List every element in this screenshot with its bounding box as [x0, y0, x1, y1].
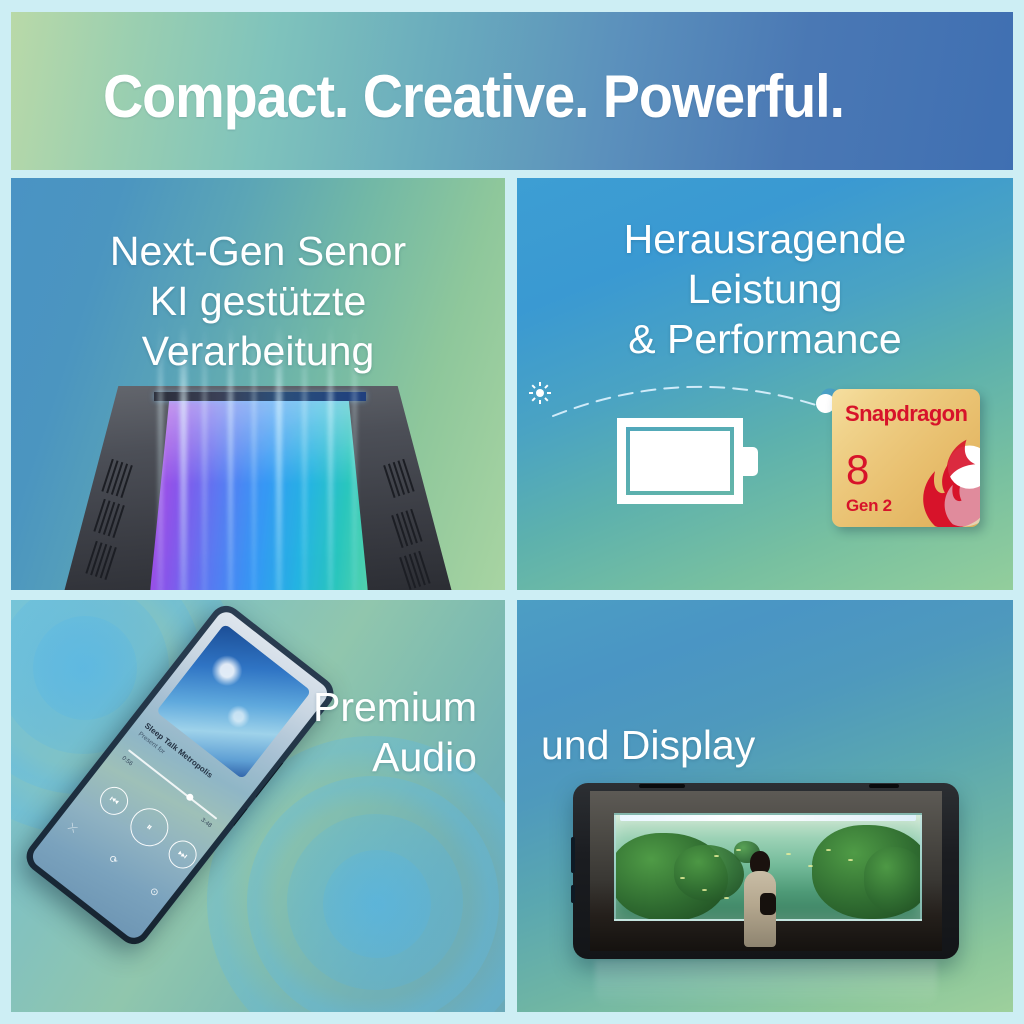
equalizer-icon[interactable]: ⊙: [148, 885, 161, 899]
repeat-icon[interactable]: ⟳: [107, 853, 120, 867]
shuffle-icon[interactable]: ⤫: [66, 821, 79, 835]
snapdragon-chip-badge: Snapdragon 8 Gen 2: [832, 389, 980, 527]
panel-title-performance: Herausragende Leistung & Performance: [517, 214, 1013, 364]
panel-next-gen-sensor: Next-Gen Senor KI gestützte Verarbeitung: [11, 178, 505, 590]
snapdragon-number-label: 8: [846, 449, 869, 491]
sensor-photosensitive-surface: [150, 396, 368, 590]
battery-full-icon: [617, 418, 759, 504]
panel-display: und Display: [517, 600, 1013, 1012]
snapdragon-flame-logo-icon: [878, 421, 980, 527]
phone-reflection: [595, 960, 937, 1008]
aquarium-fish: [724, 897, 729, 899]
aquarium-light-bar: [620, 813, 916, 821]
aquarium-plant: [864, 847, 922, 913]
header-banner: Compact. Creative. Powerful.: [11, 12, 1013, 170]
phone-speaker-slot: [639, 784, 685, 788]
person-silhouette: [740, 851, 780, 947]
display-phone: [573, 783, 959, 959]
shoulder-bag: [760, 893, 776, 915]
pause-icon[interactable]: ⏸: [123, 801, 176, 854]
aquarium-room-scene: [590, 791, 942, 951]
page-title: Compact. Creative. Powerful.: [103, 62, 844, 131]
next-track-icon[interactable]: ⏭: [163, 835, 202, 874]
aquarium-fish: [808, 865, 813, 867]
panel-title-audio: Premium Audio: [313, 682, 477, 782]
product-feature-poster: Compact. Creative. Powerful.: [0, 0, 1024, 1024]
time-elapsed: 0:56: [120, 755, 133, 767]
image-sensor-chip: [58, 366, 458, 590]
aquarium-fish: [680, 877, 685, 879]
panel-title-display: und Display: [541, 720, 755, 770]
panel-premium-audio: Sleep Talk Metropolis Present for 0:56 3…: [11, 600, 505, 1012]
sun-icon: [529, 382, 551, 404]
aquarium-fish: [786, 853, 791, 855]
phone-screen: [590, 791, 942, 951]
aquarium-fish: [702, 889, 707, 891]
sound-wave-ring: [323, 850, 431, 958]
panel-performance: Herausragende Leistung & Performance Sna…: [517, 178, 1013, 590]
phone-camera-slot: [869, 784, 899, 788]
previous-track-icon[interactable]: ⏮: [94, 781, 133, 820]
sound-wave-ring: [33, 616, 137, 720]
time-total: 3:48: [200, 817, 213, 829]
aquarium-fish: [714, 855, 719, 857]
aquarium-fish: [826, 849, 831, 851]
aquarium-fish: [848, 859, 853, 861]
panel-title-sensor: Next-Gen Senor KI gestützte Verarbeitung: [11, 226, 505, 376]
volume-button[interactable]: [571, 837, 575, 873]
power-button[interactable]: [571, 885, 575, 903]
sensor-top-connector-bar: [154, 392, 366, 401]
